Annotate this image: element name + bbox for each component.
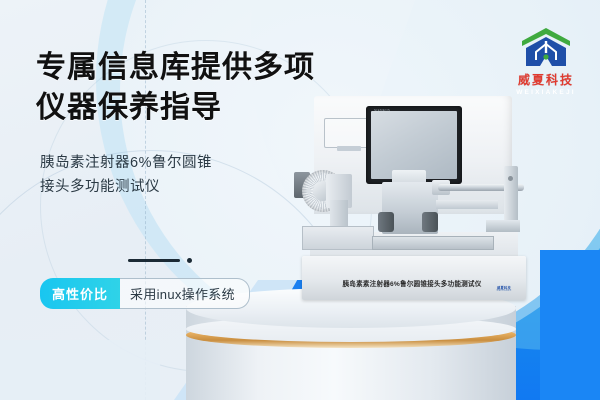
tag-primary[interactable]: 高性价比 xyxy=(40,278,120,309)
machine-arm-hole xyxy=(508,176,513,181)
subtitle-line-1: 胰岛素注射器6%鲁尔圆锥 xyxy=(40,152,290,176)
subtitle-line-2: 接头多功能测试仪 xyxy=(40,176,290,200)
machine-caption: 胰岛素素注射器6%鲁尔圆锥接头多功能测试仪 xyxy=(312,278,512,288)
hexagon-chevron-logo-icon xyxy=(500,26,592,70)
logo-name-cn: 威夏科技 xyxy=(500,71,592,88)
tag-secondary[interactable]: 采用inux操作系统 xyxy=(120,278,250,309)
divider-dot xyxy=(187,258,192,263)
machine-arm-foot xyxy=(486,220,520,232)
brand-logo[interactable]: 威夏科技 WEIXIAKEJI xyxy=(500,26,592,96)
feature-tag-row: 高性价比 采用inux操作系统 xyxy=(40,278,250,309)
machine-lower-rail xyxy=(372,236,494,250)
machine-tray xyxy=(302,226,374,250)
logo-name-en: WEIXIAKEJI xyxy=(500,89,592,96)
subtitle: 胰岛素注射器6%鲁尔圆锥 接头多功能测试仪 xyxy=(40,152,290,200)
promo-banner: 威夏科技 SIEMENS xyxy=(0,0,600,400)
decor-right-blue-block xyxy=(540,250,600,400)
machine-base: 胰岛素素注射器6%鲁尔圆锥接头多功能测试仪 威夏科技 WEIXIAKEJI xyxy=(302,256,526,300)
machine-knob-left xyxy=(378,212,394,232)
machine-badge: 威夏科技 WEIXIAKEJI xyxy=(492,285,516,292)
divider-bar xyxy=(128,259,180,263)
machine-knob-right xyxy=(422,212,438,232)
headline: 专属信息库提供多项 仪器保养指导 xyxy=(36,48,336,128)
headline-line-2: 仪器保养指导 xyxy=(36,88,336,128)
machine-upper-rail xyxy=(436,200,498,209)
decor-ribbon-pale xyxy=(0,340,160,400)
machine-panel-brand-label: SIEMENS xyxy=(374,108,390,112)
machine-touchscreen xyxy=(371,111,457,179)
decor-divider xyxy=(128,258,192,263)
machine-badge-en: WEIXIAKEJI xyxy=(492,290,516,292)
headline-line-1: 专属信息库提供多项 xyxy=(36,48,336,88)
